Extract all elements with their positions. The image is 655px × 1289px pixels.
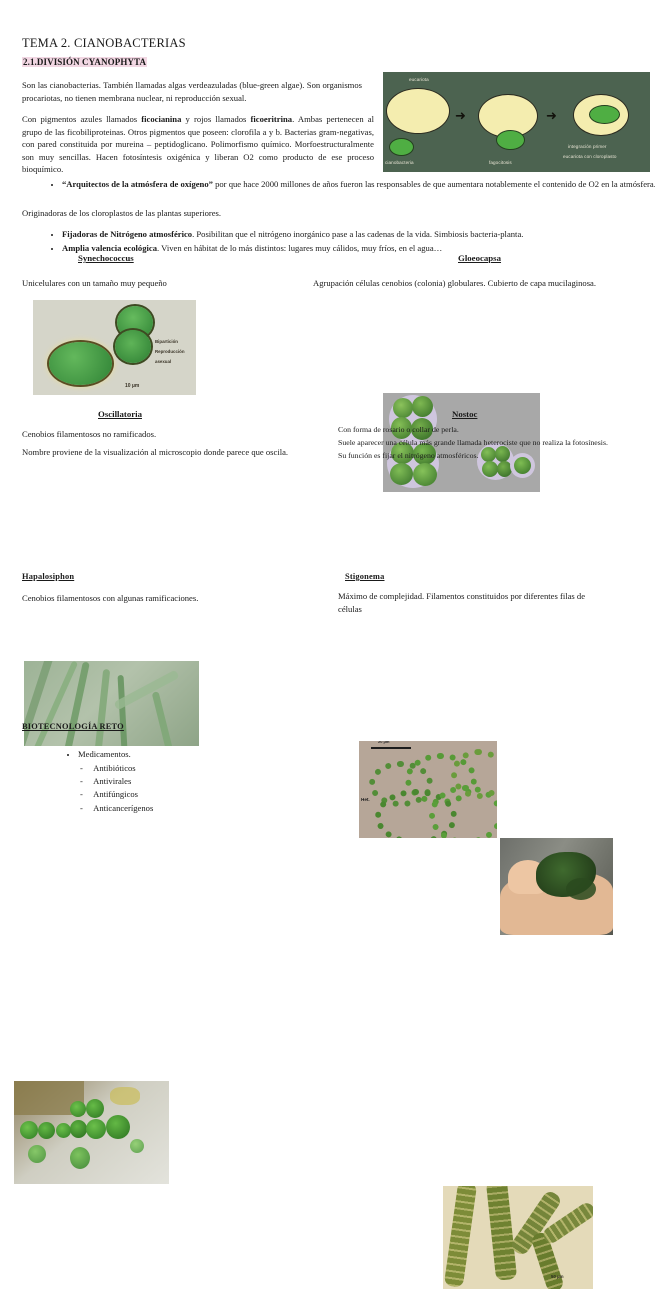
paragraph-chloroplasts: Originadoras de los cloroplastos de las … [22,207,422,220]
bullet-rest: . Viven en hábitat de lo más distintos: … [157,243,442,253]
list-item: “Arquitectos de la atmósfera de oxígeno”… [62,178,655,191]
list-item: - Antibióticos [80,762,153,775]
colony-cell [412,396,433,417]
paragraph-pigments: Con pigmentos azules llamados ficocianin… [22,113,374,176]
colony-cell [482,461,498,477]
p2-c: y rojos llamados [181,114,250,124]
background-patch [110,1087,140,1105]
bullet-list-architects: “Arquitectos de la atmósfera de oxígeno”… [48,178,655,192]
colony-cell [390,463,413,485]
document-page: TEMA 2. CIANOBACTERIAS 2.1.DIVISIÓN CYAN… [0,0,655,848]
filament-cell [86,1099,104,1118]
cyanobacteria-cell [389,138,414,156]
label-fagocitosis: fagocitosis [489,160,512,165]
filament [152,691,176,746]
list-item: - Anticancerígenos [80,802,153,815]
stigonema-micrograph: 50 µm [443,1186,593,1289]
caption-hapalosiphon: Cenobios filamentosos con algunas ramifi… [22,592,322,604]
medicine-sublist: - Antibióticos - Antivirales - Antifúngi… [80,762,153,815]
arrow-right-icon-1: ➜ [455,110,466,123]
dash-marker: - [80,776,83,786]
sublist-label: Antifúngicos [93,789,138,799]
term-ficoeritrina: ficoeritrina [251,114,293,124]
caption-nostoc-3: Su función es fijar el nitrógeno atmosfé… [338,450,654,462]
filament-cell [70,1101,86,1117]
list-item: - Antifúngicos [80,788,153,801]
filament-cell [106,1115,130,1139]
sublist-label: Antivirales [93,776,131,786]
filament-cell [130,1139,144,1153]
page-title: TEMA 2. CIANOBACTERIAS [22,36,186,51]
engulfed-cyanobacteria [496,130,525,150]
filament-cell [56,1123,71,1138]
annotation-heterocyst: Het. [361,797,370,802]
heading-gloeocapsa: Gloeocapsa [458,253,501,263]
list-item: Fijadoras de Nitrógeno atmosférico. Posi… [62,228,655,241]
scale-label-stigonema: 50 µm [551,1274,564,1279]
heading-hapalosiphon: Hapalosiphon [22,572,74,581]
heading-biotecnologia: BIOTECNOLOGÍA RETO [22,722,124,731]
label-eucariota: eucariota [409,77,429,82]
chloroplast [589,105,620,124]
filament-cell [70,1147,90,1169]
overlay-label-3: asexual [155,359,171,364]
bullet-list-biotech: Medicamentos. [64,748,378,762]
multiseriate-filament [486,1186,517,1281]
bullet-bold: “Arquitectos de la atmósfera de oxígeno” [62,179,213,189]
heading-synechococcus: Synechococcus [78,253,134,263]
filament-cell [86,1119,106,1139]
bullet-bold: Amplia valencia ecológica [62,243,157,253]
bullet-bold: Fijadoras de Nitrógeno atmosférico [62,229,192,239]
caption-nostoc-1: Con forma de rosario o collar de perla. [338,424,654,436]
synechococcus-micrograph: Bipartición Reproducción asexual 10 µm [33,300,196,395]
heading-oscillatoria: Oscillatoria [98,409,142,419]
label-integracion-line1: integración primer [568,144,607,149]
filament [93,669,110,746]
dash-marker: - [80,789,83,799]
label-integracion-line2: eucariota con cloroplasto [563,154,617,159]
heading-nostoc: Nostoc [452,409,477,419]
nostoc-colony-photo [500,838,613,935]
p2-a: Con pigmentos azules llamados [22,114,141,124]
label-cianobacteria: cianobacteria [385,160,414,165]
caption-synechococcus: Unicelulares con un tamaño muy pequeño [22,277,302,289]
list-item: Medicamentos. [78,748,378,761]
caption-oscillatoria-2: Nombre proviene de la visualización al m… [22,446,332,458]
arrow-right-icon-2: ➜ [546,110,557,123]
cell-dividing-b [115,330,151,363]
bullet-list-properties: Fijadoras de Nitrógeno atmosférico. Posi… [48,228,655,255]
bullet-rest: . Posibilitan que el nitrógeno inorgánic… [192,229,523,239]
caption-stigonema-1: Máximo de complejidad. Filamentos consti… [338,590,648,602]
oscillatoria-micrograph [24,661,199,746]
paragraph-intro: Son las cianobacterias. También llamadas… [22,79,362,104]
filament-cell [38,1122,55,1139]
caption-oscillatoria-1: Cenobios filamentosos no ramificados. [22,428,322,440]
sublist-label: Anticancerígenos [93,803,153,813]
filament-cell [20,1121,38,1139]
heading-stigonema: Stigonema [345,572,385,581]
caption-nostoc-2: Suele aparecer una célula más grande lla… [338,437,654,449]
overlay-label-1: Bipartición [155,339,178,344]
multiseriate-filament [444,1186,477,1288]
nostoc-gel-lobe [566,878,596,900]
caption-gloeocapsa: Agrupación células cenobios (colonia) gl… [313,277,655,289]
section-heading: 2.1.DIVISIÓN CYANOPHYTA [22,57,147,67]
overlay-label-2: Reproducción [155,349,185,354]
dash-marker: - [80,763,83,773]
bullet-rest: por que hace 2000 millones de años fuero… [213,179,655,189]
caption-stigonema-2: células [338,603,648,615]
cell-single [49,342,112,385]
filament [118,675,129,746]
eukaryote-cell-1 [386,88,450,134]
nostoc-micrograph: 20 µm Het. [359,741,497,838]
term-ficocianina: ficocianina [141,114,181,124]
hapalosiphon-micrograph [14,1081,169,1184]
filament-cell [28,1145,46,1163]
colony-cell [393,398,413,418]
scale-label-synechococcus: 10 µm [125,383,139,389]
colony-cell [413,463,437,486]
endosymbiosis-diagram: eucariota cianobacteria ➜ fagocitosis ➜ … [383,72,650,172]
scale-label-nostoc: 20 µm [378,741,389,744]
filament-cell [70,1120,87,1138]
sublist-label: Antibióticos [93,763,136,773]
list-item: Amplia valencia ecológica. Viven en hábi… [62,242,655,255]
list-item: - Antivirales [80,775,153,788]
dash-marker: - [80,803,83,813]
